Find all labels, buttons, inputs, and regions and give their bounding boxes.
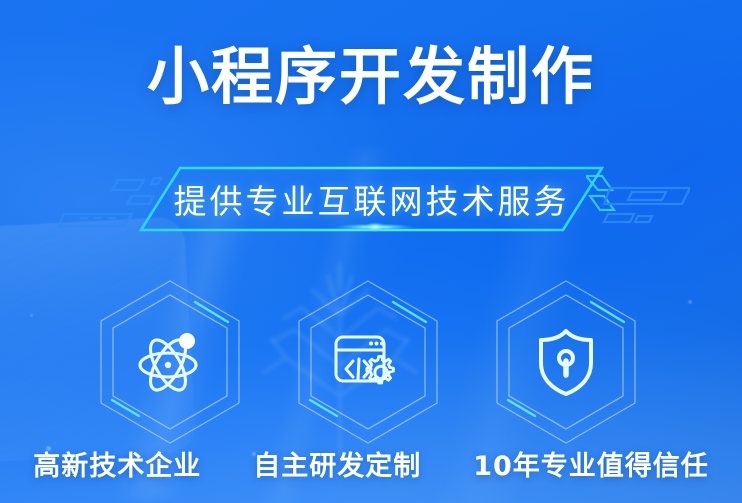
feature-hex-code[interactable]	[293, 278, 443, 446]
atom-icon	[133, 325, 207, 399]
code-window-gear-icon	[331, 325, 405, 399]
tech-arrow-marks-icon	[586, 174, 690, 228]
feature-label-0: 高新技术企业	[33, 444, 201, 483]
feature-hex-shield[interactable]	[491, 278, 641, 446]
feature-hex-atom[interactable]	[95, 278, 245, 446]
feature-label-1: 自主研发定制	[253, 444, 421, 483]
lens-flare-icon	[334, 219, 416, 235]
promo-banner: 小程序开发制作	[0, 0, 742, 503]
page-title: 小程序开发制作	[0, 46, 742, 108]
shield-lock-icon	[529, 325, 603, 399]
feature-label-2: 10年专业值得信任	[473, 444, 709, 483]
feature-label-row: 高新技术企业 自主研发定制 10年专业值得信任	[0, 444, 742, 483]
feature-hex-group	[0, 278, 742, 446]
